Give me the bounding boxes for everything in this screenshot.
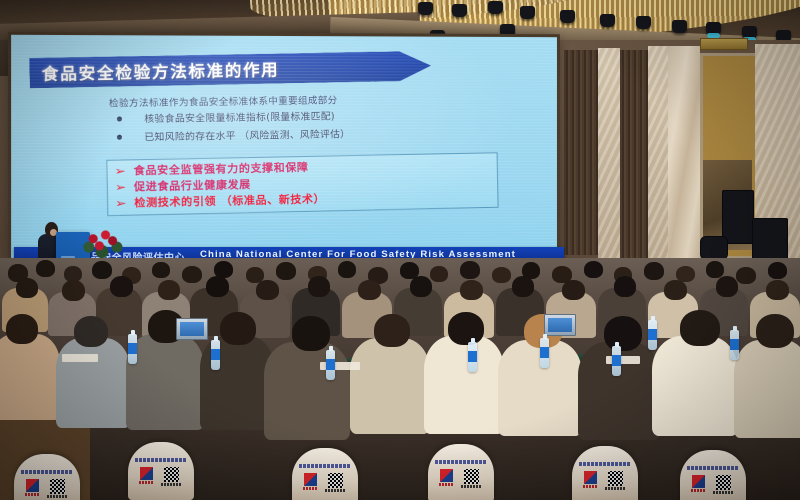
water-bottle (326, 350, 335, 380)
qr-code-caption (325, 489, 346, 492)
audience-head (16, 278, 38, 298)
qr-code-caption (47, 495, 68, 498)
chair-cover-headline (135, 458, 187, 462)
sponsor-logo-caption (139, 481, 154, 484)
bullet-dot-icon (117, 116, 122, 121)
loudspeaker-lower (752, 218, 788, 262)
sponsor-logo-caption (583, 485, 598, 488)
chair-cover-headline (687, 466, 739, 470)
slide-bullet-2: 已知风险的存在水平 （风险监测、风险评估） (117, 126, 350, 144)
slide-bullet-2-label: 已知风险的存在水平 （风险监测、风险评估） (144, 129, 350, 143)
audience-head (584, 261, 603, 278)
slide-title-container: 食品安全检验方法标准的作用 (29, 50, 481, 92)
audience-head (152, 262, 170, 278)
audience-head (680, 310, 720, 346)
audience-head (74, 316, 108, 347)
qr-code-icon (716, 475, 731, 490)
arrow-marker-icon: ➢ (114, 164, 127, 177)
chair-cover (680, 450, 746, 500)
audience-head (768, 262, 787, 279)
sponsor-logo-icon (26, 479, 39, 492)
laptop (544, 314, 576, 336)
wood-panel-mid (620, 50, 648, 258)
water-bottle (540, 338, 549, 368)
audience-person-near (350, 338, 430, 434)
sponsor-logo-icon (304, 473, 317, 486)
stage-light-icon (672, 20, 687, 33)
chair-cover-headline (299, 464, 351, 468)
conference-photo-scene: 食品安全检验方法标准的作用 检验方法标准作为食品安全标准体系中重要组成部分 核验… (0, 0, 800, 500)
audience-area (0, 258, 800, 500)
sponsor-logo-icon (440, 469, 453, 482)
qr-code-icon (50, 479, 65, 494)
audience-head (562, 280, 585, 300)
audience-person-near (126, 334, 204, 430)
audience-head (430, 266, 448, 282)
audience-head (62, 280, 85, 301)
slide-highlight-2-label: 促进食品行业健康发展 (134, 178, 251, 193)
water-bottle (730, 330, 739, 360)
audience-head (358, 280, 381, 300)
slide-highlight-3-label: 检测技术的引领 （标准品、新技术） (134, 193, 325, 210)
stage-light-icon (560, 10, 575, 23)
audience-head (614, 276, 636, 297)
chair-cover-headline (579, 462, 631, 466)
sponsor-logo-caption (439, 483, 454, 486)
marble-pillar-2 (648, 46, 668, 258)
audience-head (644, 262, 664, 280)
chair-cover-headline (435, 460, 487, 464)
stage-light-icon (636, 16, 651, 29)
audience-head (766, 280, 789, 300)
slide-highlight-row-1: ➢食品安全监管强有力的支撑和保障 (115, 159, 308, 179)
audience-head (220, 312, 256, 345)
qr-code-icon (464, 469, 479, 484)
sponsor-logo-icon (692, 475, 705, 488)
slide-highlight-row-3: ➢检测技术的引领 （标准品、新技术） (116, 191, 325, 211)
chair-cover (128, 442, 194, 500)
audience-head (448, 312, 484, 345)
audience-head (206, 276, 229, 297)
slide-bullet-1: 核验食品安全限量标准指标(限量标准匹配) (117, 108, 335, 125)
wood-panel-left (564, 50, 598, 255)
audience-head (182, 266, 202, 283)
qr-code-icon (608, 471, 623, 486)
audience-head (664, 280, 687, 300)
sponsor-logo-caption (303, 487, 318, 490)
stage-light-icon (418, 2, 433, 15)
audience-head (716, 276, 738, 297)
exit-sign (700, 38, 748, 50)
audience-person-near (734, 340, 800, 438)
stage-light-icon (600, 14, 615, 27)
flower-arrangement (80, 226, 124, 258)
audience-head (756, 314, 794, 348)
audience-head (736, 267, 756, 284)
chair-cover (572, 446, 638, 500)
audience-head (512, 276, 534, 297)
audience-person-near (424, 336, 504, 434)
bullet-dot-icon (117, 134, 122, 139)
qr-code-caption (713, 491, 734, 494)
water-bottle (612, 346, 621, 376)
stage-light-icon (452, 4, 467, 17)
audience-person-near (264, 342, 350, 440)
marble-pillar-1 (598, 48, 620, 258)
loudspeaker (722, 190, 754, 244)
stage-light-icon (500, 24, 515, 37)
chair-cover (14, 454, 80, 500)
audience-person-near (56, 338, 130, 428)
water-bottle (128, 334, 137, 364)
audience-head (492, 267, 511, 283)
chair-cover (292, 448, 358, 500)
arrow-marker-icon: ➢ (115, 197, 128, 210)
qr-code-caption (605, 487, 626, 490)
audience-person-near (0, 334, 60, 420)
qr-code-caption (461, 485, 482, 488)
arrow-marker-icon: ➢ (115, 181, 128, 194)
slide-highlight-box: ➢食品安全监管强有力的支撑和保障 ➢促进食品行业健康发展 ➢检测技术的引领 （标… (106, 152, 498, 216)
audience-head (292, 316, 330, 351)
chair-cover-headline (21, 470, 73, 474)
slide-bullet-1-label: 核验食品安全限量标准指标(限量标准匹配) (144, 111, 335, 125)
laptop (176, 318, 208, 340)
audience-head (158, 280, 180, 300)
water-bottle (211, 340, 220, 370)
sponsor-logo-caption (691, 489, 706, 492)
qr-code-caption (161, 483, 182, 486)
stage-light-icon (488, 1, 503, 14)
slide-highlight-1-label: 食品安全监管强有力的支撑和保障 (134, 161, 309, 178)
audience-head (460, 261, 480, 279)
audience-head (706, 261, 724, 278)
audience-head (308, 276, 330, 297)
slide-lead-text: 检验方法标准作为食品安全标准体系中重要组成部分 (109, 92, 338, 109)
stage-light-icon (520, 6, 535, 19)
audience-head (276, 262, 296, 280)
audience-head (36, 260, 55, 277)
chair-cover (428, 444, 494, 500)
audience-person-near (652, 336, 738, 436)
marble-wall-panel (668, 46, 700, 258)
document-paper (62, 354, 98, 362)
audience-head (604, 316, 642, 351)
sponsor-logo-icon (140, 467, 153, 480)
audience-head (410, 276, 432, 297)
audience-head (6, 314, 38, 344)
audience-head (256, 280, 279, 300)
qr-code-icon (328, 473, 343, 488)
audience-head (460, 280, 483, 300)
water-bottle (468, 342, 477, 372)
audience-head (92, 261, 112, 279)
stage-monitor (700, 236, 728, 260)
sponsor-logo-icon (584, 471, 597, 484)
sponsor-logo-caption (25, 493, 40, 496)
water-bottle (648, 320, 657, 350)
stage-light-icon (706, 22, 721, 35)
audience-head (338, 261, 356, 278)
audience-head (374, 314, 410, 347)
audience-head (110, 276, 133, 297)
qr-code-icon (164, 467, 179, 482)
